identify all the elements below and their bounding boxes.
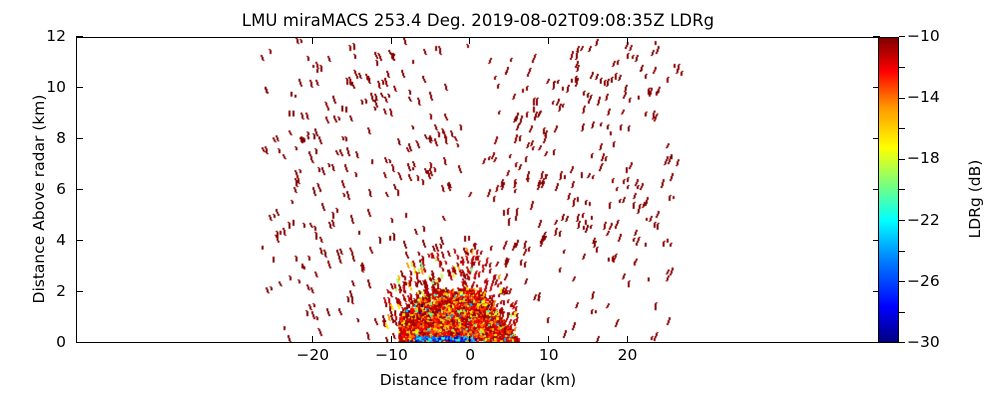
colorbar-tick-label: −18: [907, 151, 963, 167]
colorbar-tick-mark: [899, 159, 905, 160]
y-tick-label: 12: [6, 29, 66, 45]
x-tick-label: 10: [509, 348, 589, 364]
colorbar-tick-label: −22: [907, 213, 963, 229]
x-tick-mark: [548, 37, 549, 44]
y-axis-label: Distance Above radar (km): [30, 46, 48, 352]
colorbar-tick-mark: [899, 98, 905, 99]
colorbar: [878, 37, 899, 343]
figure-canvas: LMU miraMACS 253.4 Deg. 2019-08-02T09:08…: [0, 0, 1000, 400]
x-axis-label: Distance from radar (km): [76, 371, 880, 389]
x-tick-mark: [312, 37, 313, 44]
scatter-plot-canvas: [77, 38, 879, 342]
colorbar-tick-mark: [899, 36, 905, 37]
x-tick-label: 0: [430, 348, 510, 364]
x-tick-mark: [391, 37, 392, 44]
plot-axes-area: [76, 37, 880, 343]
x-tick-label: 20: [587, 348, 667, 364]
y-tick-mark: [76, 291, 83, 292]
y-tick-mark: [76, 138, 83, 139]
y-tick-mark: [76, 240, 83, 241]
colorbar-tick-mark: [899, 128, 905, 129]
colorbar-label: LDRg (dB): [966, 46, 984, 352]
x-tick-mark: [391, 336, 392, 343]
colorbar-tick-mark: [899, 281, 905, 282]
colorbar-tick-mark: [899, 220, 905, 221]
colorbar-tick-label: −14: [907, 90, 963, 106]
colorbar-tick-mark: [899, 251, 905, 252]
x-tick-mark: [469, 336, 470, 343]
colorbar-tick-mark: [899, 67, 905, 68]
x-tick-label: −10: [351, 348, 431, 364]
x-tick-label: −20: [273, 348, 353, 364]
y-tick-mark: [76, 36, 83, 37]
y-tick-mark: [76, 189, 83, 190]
colorbar-tick-mark: [899, 342, 905, 343]
colorbar-tick-mark: [899, 312, 905, 313]
colorbar-tick-label: −30: [907, 335, 963, 351]
x-tick-mark: [548, 336, 549, 343]
y-tick-mark: [76, 87, 83, 88]
x-tick-mark: [627, 37, 628, 44]
x-tick-mark: [627, 336, 628, 343]
x-tick-mark: [312, 336, 313, 343]
y-tick-mark: [76, 342, 83, 343]
page-title: LMU miraMACS 253.4 Deg. 2019-08-02T09:08…: [76, 11, 880, 30]
colorbar-tick-label: −10: [907, 29, 963, 45]
colorbar-tick-mark: [899, 189, 905, 190]
x-tick-mark: [469, 37, 470, 44]
colorbar-tick-label: −26: [907, 274, 963, 290]
